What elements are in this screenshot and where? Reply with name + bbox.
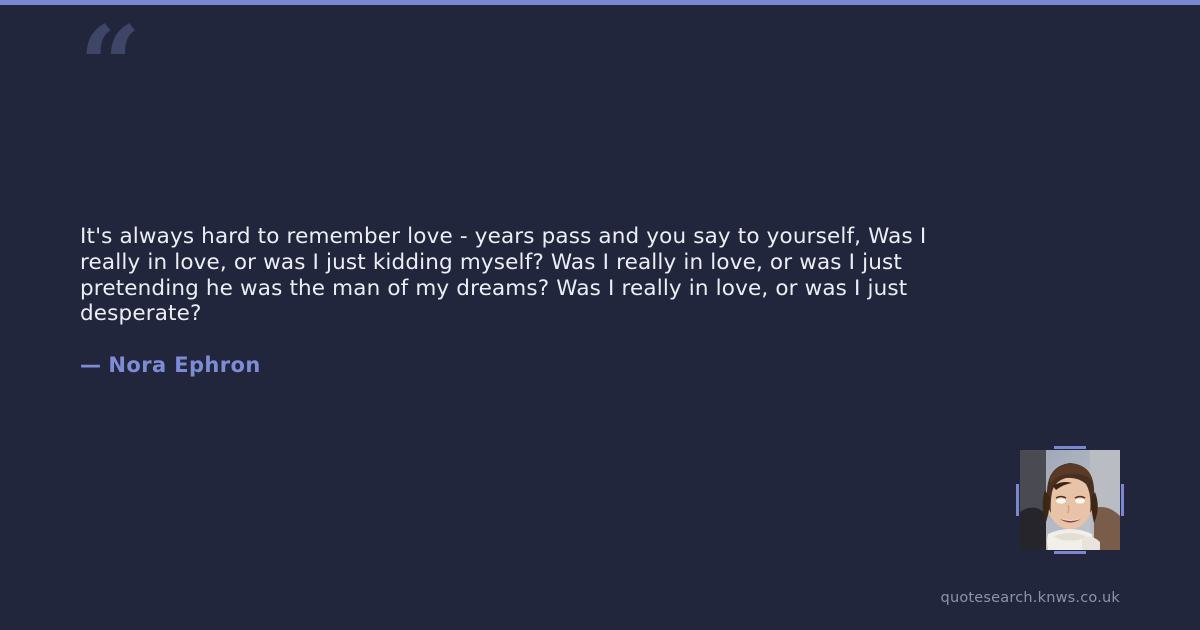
author-portrait-frame (1020, 450, 1120, 550)
author-dash: — (80, 353, 101, 377)
frame-tick-left (1016, 484, 1019, 516)
quotation-mark-icon: “ (79, 12, 139, 120)
source-watermark: quotesearch.knws.co.uk (941, 590, 1120, 606)
quote-text: It's always hard to remember love - year… (80, 224, 980, 327)
frame-tick-right (1121, 484, 1124, 516)
frame-tick-top (1054, 446, 1086, 449)
quote-author: —Nora Ephron (80, 353, 261, 377)
author-portrait-image (1020, 450, 1120, 550)
author-name: Nora Ephron (108, 353, 260, 377)
author-portrait (1020, 450, 1120, 550)
frame-tick-bottom (1054, 551, 1086, 554)
top-accent-bar (0, 0, 1200, 5)
quote-card: “ It's always hard to remember love - ye… (0, 0, 1200, 630)
